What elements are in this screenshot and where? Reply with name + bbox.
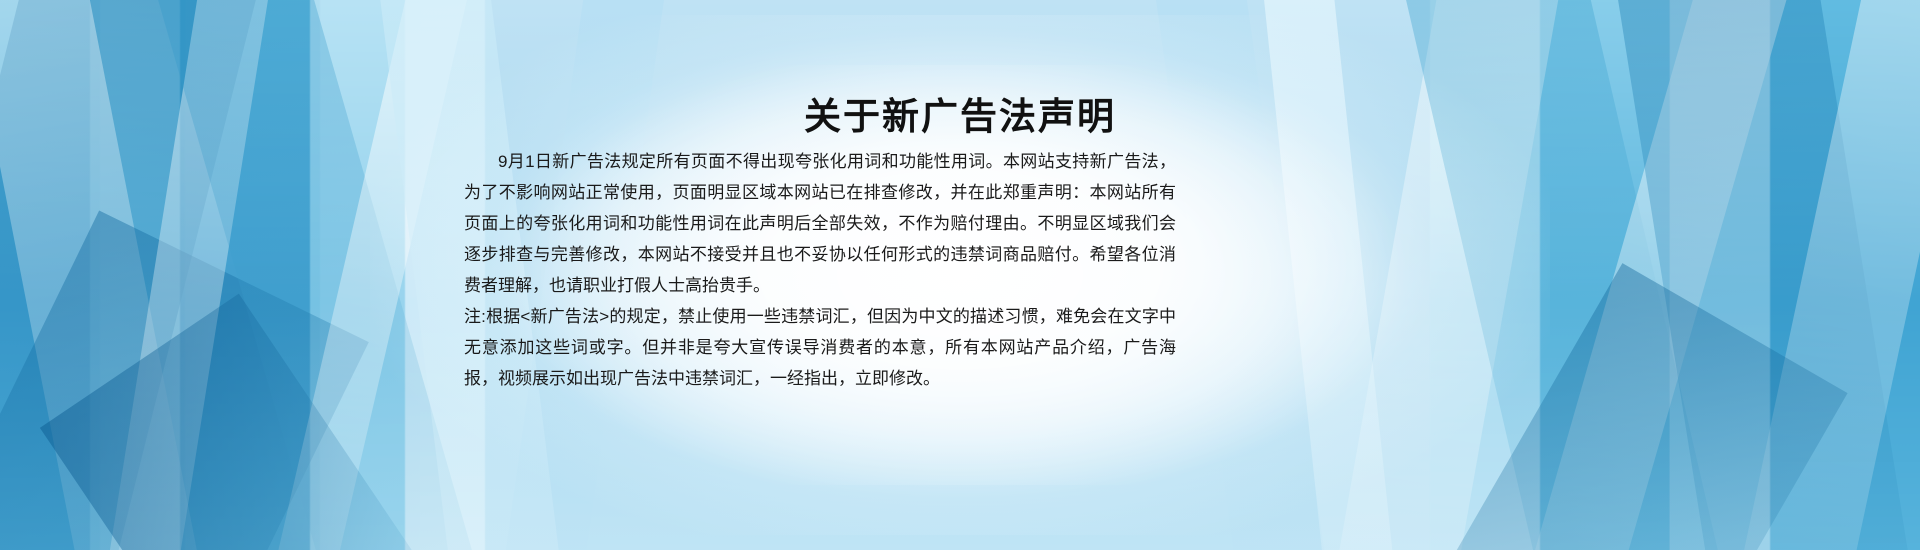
statement-body: 9月1日新广告法规定所有页面不得出现夸张化用词和功能性用词。本网站支持新广告法，… xyxy=(464,146,1176,394)
page-title: 关于新广告法声明 xyxy=(0,86,1920,140)
advertising-law-statement-banner: 关于新广告法声明 9月1日新广告法规定所有页面不得出现夸张化用词和功能性用词。本… xyxy=(0,0,1920,550)
statement-content: 关于新广告法声明 9月1日新广告法规定所有页面不得出现夸张化用词和功能性用词。本… xyxy=(0,0,1920,550)
statement-paragraph-note: 注:根据<新广告法>的规定，禁止使用一些违禁词汇，但因为中文的描述习惯，难免会在… xyxy=(464,301,1176,394)
statement-paragraph-main: 9月1日新广告法规定所有页面不得出现夸张化用词和功能性用词。本网站支持新广告法，… xyxy=(464,146,1176,301)
